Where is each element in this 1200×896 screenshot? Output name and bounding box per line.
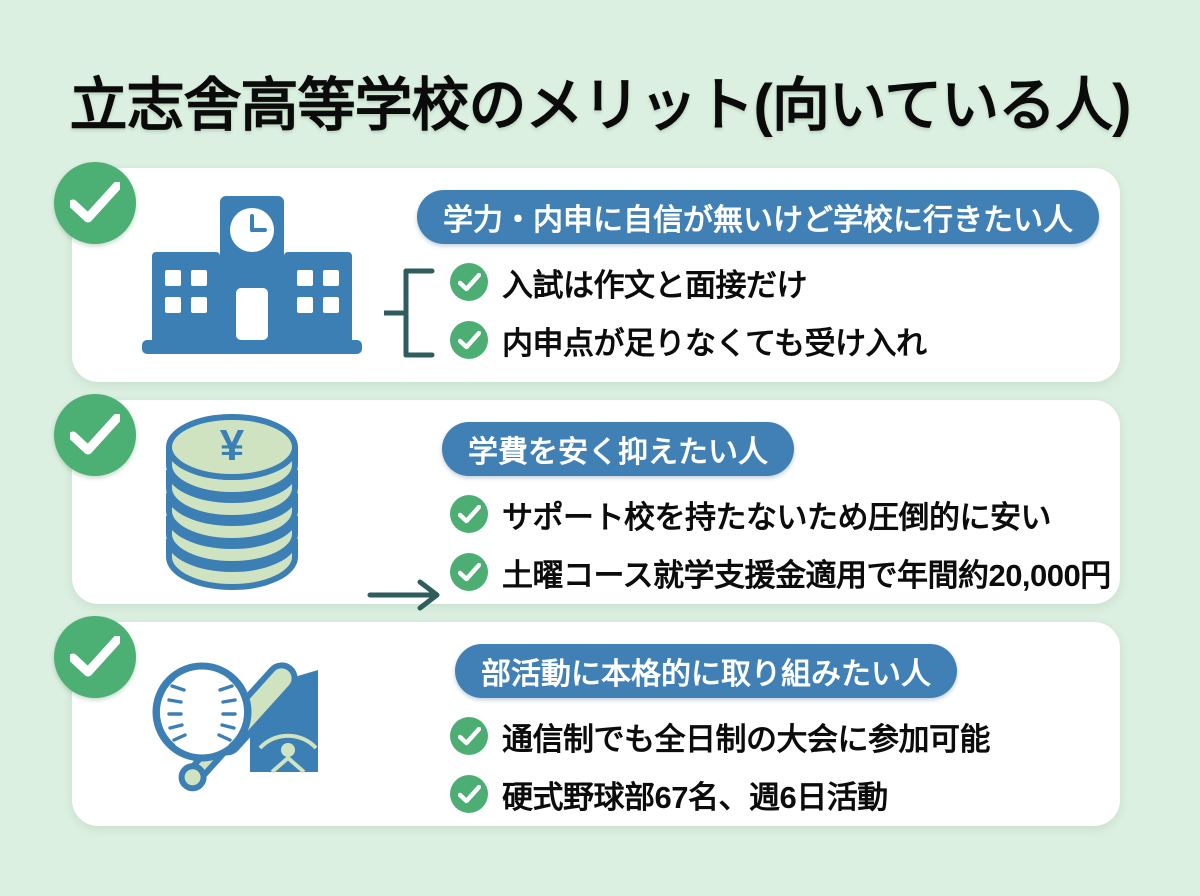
check-circle-icon [54,394,136,476]
svg-text:¥: ¥ [220,421,245,470]
bullet-list-3: 通信制でも全日制の大会に参加可能 硬式野球部67名、週6日活動 [450,710,990,826]
bullet-text: 内申点が足りなくても受け入れ [502,318,927,363]
bullet-item: 硬式野球部67名、週6日活動 [450,768,990,820]
check-circle-icon [450,553,488,591]
card-heading-pill-1: 学力・内申に自信が無いけど学校に行きたい人 [417,190,1099,244]
bracket-connector [384,263,442,368]
baseball-bat-icon [132,622,382,826]
check-circle-icon [450,717,488,755]
check-circle-icon [54,162,136,244]
bullet-item: 入試は作文と面接だけ [450,256,927,308]
school-building-icon [132,168,382,382]
merit-card-1: 学力・内申に自信が無いけど学校に行きたい人 入試は作文と面接だけ 内申点が足りな… [72,168,1120,382]
bullet-text: 入試は作文と面接だけ [502,260,807,305]
bullet-item: サポート校を持たないため圧倒的に安い [450,488,1111,540]
bullet-item: 土曜コース就学支援金適用で年間約20,000円 [450,546,1111,598]
check-circle-icon [54,616,136,698]
bullet-text: 硬式野球部67名、週6日活動 [502,772,888,817]
arrow-right-connector [367,578,447,617]
bullet-text: 土曜コース就学支援金適用で年間約20,000円 [502,550,1111,595]
check-circle-icon [450,495,488,533]
bullet-list-2: サポート校を持たないため圧倒的に安い 土曜コース就学支援金適用で年間約20,00… [450,488,1111,604]
bullet-text: 通信制でも全日制の大会に参加可能 [502,714,990,759]
page-title: 立志舎高等学校のメリット(向いている人) [0,58,1200,142]
card-heading-pill-2: 学費を安く抑えたい人 [442,422,794,476]
merit-card-3: 部活動に本格的に取り組みたい人 通信制でも全日制の大会に参加可能 硬式野球部67… [72,622,1120,826]
merit-card-2: ¥ 学費を安く抑えたい人 サポート校を持たないため圧倒的に安い [72,400,1120,604]
bullet-list-1: 入試は作文と面接だけ 内申点が足りなくても受け入れ [450,256,927,372]
check-circle-icon [450,263,488,301]
check-circle-icon [450,321,488,359]
bullet-text: サポート校を持たないため圧倒的に安い [502,492,1051,537]
check-circle-icon [450,775,488,813]
bullet-item: 内申点が足りなくても受け入れ [450,314,927,366]
bullet-item: 通信制でも全日制の大会に参加可能 [450,710,990,762]
coin-stack-yen-icon: ¥ [132,400,382,604]
card-heading-pill-3: 部活動に本格的に取り組みたい人 [455,644,957,698]
